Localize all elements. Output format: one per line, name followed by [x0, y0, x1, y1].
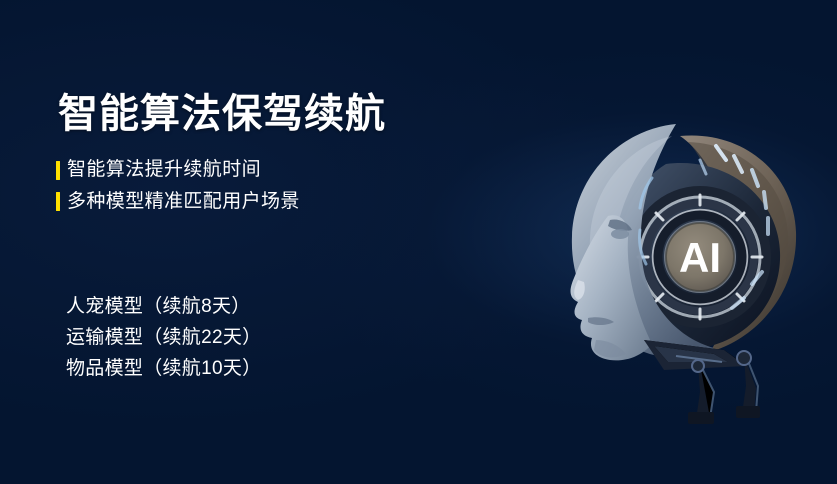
bullet-bar-icon	[56, 192, 60, 211]
model-list-item: 运输模型（续航22天）	[66, 323, 261, 354]
ai-robot-head-image: AI	[548, 112, 818, 432]
page-title: 智能算法保驾续航	[58, 92, 496, 137]
text-block: 智能算法保驾续航 智能算法提升续航时间 多种模型精准匹配用户场景	[56, 92, 496, 222]
model-list-item: 人宠模型（续航8天）	[66, 292, 261, 323]
bullet-item-1: 多种模型精准匹配用户场景	[56, 191, 496, 214]
ai-badge-label: AI	[679, 234, 721, 281]
bullet-bar-icon	[56, 161, 60, 180]
bullet-item-0: 智能算法提升续航时间	[56, 159, 496, 182]
bullet-item-label: 多种模型精准匹配用户场景	[67, 191, 300, 214]
slide-canvas: 智能算法保驾续航 智能算法提升续航时间 多种模型精准匹配用户场景 人宠模型（续航…	[0, 0, 837, 484]
robot-head-graphic: AI	[548, 112, 818, 432]
model-list-item: 物品模型（续航10天）	[66, 354, 261, 385]
model-list: 人宠模型（续航8天） 运输模型（续航22天） 物品模型（续航10天）	[66, 292, 261, 384]
bullet-list: 智能算法提升续航时间 多种模型精准匹配用户场景	[56, 159, 496, 214]
bullet-item-label: 智能算法提升续航时间	[67, 159, 261, 182]
